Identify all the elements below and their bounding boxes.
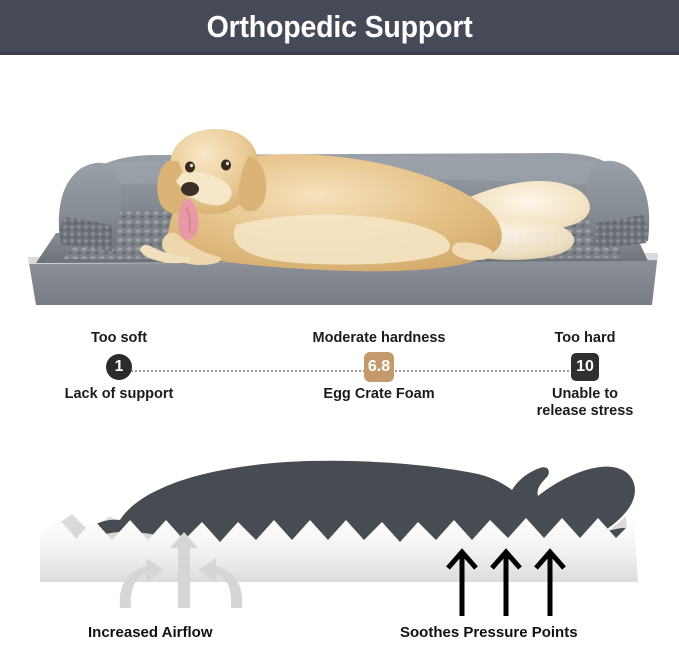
header-banner: Orthopedic Support	[0, 0, 679, 52]
dog-nose	[181, 182, 199, 196]
scale-sublabel-unable-line2: release stress	[492, 403, 678, 420]
dog-eye-right	[221, 160, 231, 171]
product-photo	[0, 57, 679, 322]
scale-node-too-hard: Too hard 10 Unable to release stress	[492, 330, 678, 420]
scale-badge-68: 6.8	[364, 352, 394, 382]
scale-badge-1: 1	[106, 354, 132, 380]
infographic-page: Orthopedic Support	[0, 0, 679, 654]
scale-badge-10: 10	[571, 353, 599, 381]
header-divider	[0, 52, 679, 55]
label-soothes-pressure-points: Soothes Pressure Points	[400, 624, 578, 641]
scale-node-moderate: Moderate hardness 6.8 Egg Crate Foam	[284, 330, 474, 403]
page-title: Orthopedic Support	[206, 11, 472, 42]
diagram-labels: Increased Airflow Soothes Pressure Point…	[0, 624, 679, 654]
foam-cross-section-diagram	[0, 432, 679, 622]
scale-node-too-soft: Too soft 1 Lack of support	[34, 330, 204, 403]
dog-eye-left	[185, 162, 195, 173]
hardness-scale: Too soft 1 Lack of support Moderate hard…	[0, 330, 679, 430]
scale-sublabel-egg-crate-foam: Egg Crate Foam	[284, 386, 474, 403]
scale-label-too-hard: Too hard	[492, 330, 678, 347]
scale-sublabel-lack-of-support: Lack of support	[34, 386, 204, 403]
label-increased-airflow: Increased Airflow	[88, 624, 212, 641]
scale-label-moderate-hardness: Moderate hardness	[284, 330, 474, 347]
scale-sublabel-unable-line1: Unable to	[492, 386, 678, 403]
scale-label-too-soft: Too soft	[34, 330, 204, 347]
